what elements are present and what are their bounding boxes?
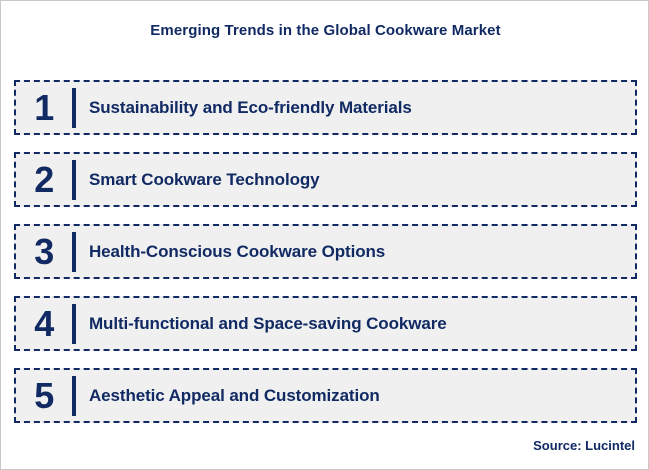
trend-list: 1 Sustainability and Eco-friendly Materi… xyxy=(14,80,637,423)
trend-label: Smart Cookware Technology xyxy=(76,169,320,191)
trend-label: Sustainability and Eco-friendly Material… xyxy=(76,97,412,119)
rank-cell: 4 xyxy=(16,298,72,349)
rank-number: 4 xyxy=(34,306,54,342)
trend-label: Multi-functional and Space-saving Cookwa… xyxy=(76,313,447,335)
page-frame: Emerging Trends in the Global Cookware M… xyxy=(0,0,649,470)
rank-cell: 1 xyxy=(16,82,72,133)
trend-label: Health-Conscious Cookware Options xyxy=(76,241,385,263)
trend-row: 2 Smart Cookware Technology xyxy=(14,152,637,207)
rank-number: 3 xyxy=(34,234,54,270)
rank-number: 5 xyxy=(34,378,54,414)
source-attribution: Source: Lucintel xyxy=(533,437,635,454)
page-title: Emerging Trends in the Global Cookware M… xyxy=(1,21,649,41)
trend-label: Aesthetic Appeal and Customization xyxy=(76,385,380,407)
rank-cell: 3 xyxy=(16,226,72,277)
trend-row: 3 Health-Conscious Cookware Options xyxy=(14,224,637,279)
rank-number: 1 xyxy=(34,90,54,126)
rank-number: 2 xyxy=(34,162,54,198)
trend-row: 4 Multi-functional and Space-saving Cook… xyxy=(14,296,637,351)
rank-cell: 2 xyxy=(16,154,72,205)
trend-row: 5 Aesthetic Appeal and Customization xyxy=(14,368,637,423)
rank-cell: 5 xyxy=(16,370,72,421)
trend-row: 1 Sustainability and Eco-friendly Materi… xyxy=(14,80,637,135)
